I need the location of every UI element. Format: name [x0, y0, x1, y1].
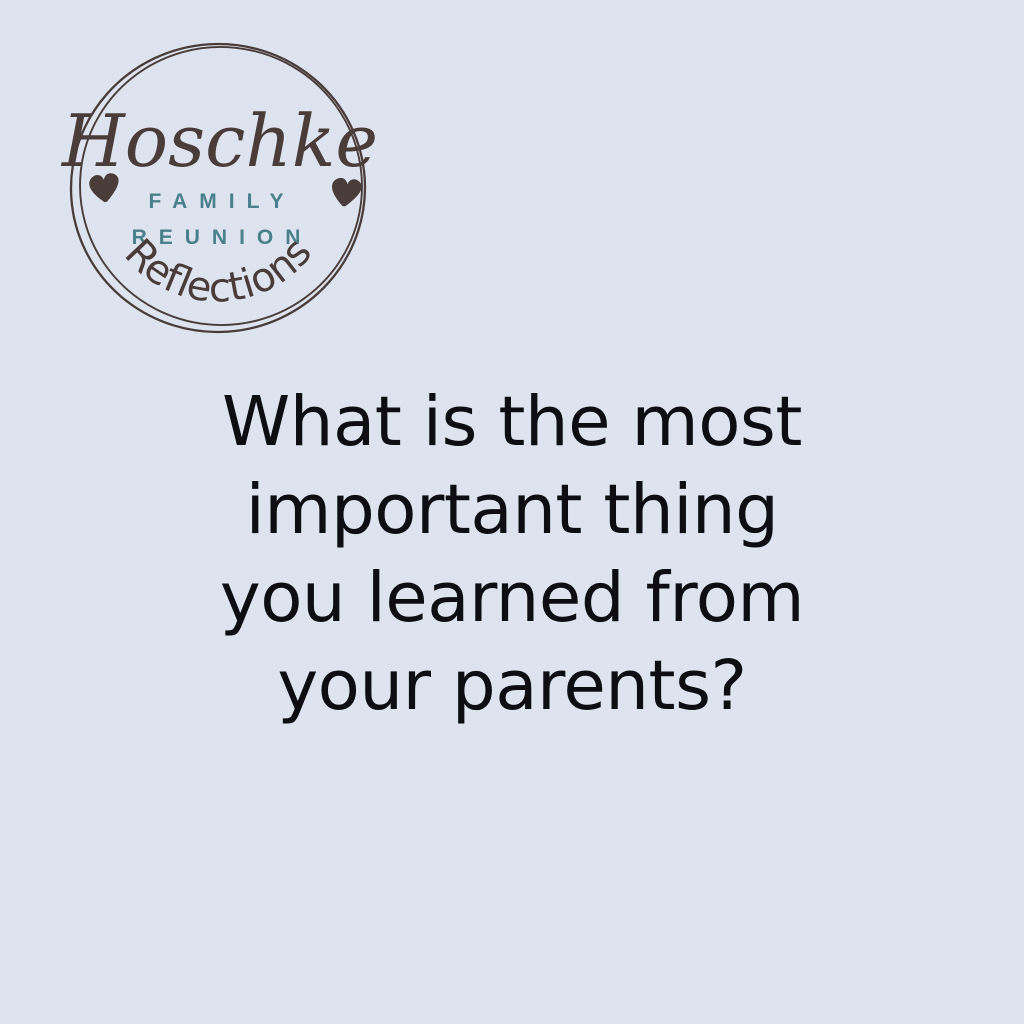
- question-line-3: you learned from: [162, 554, 862, 642]
- logo-brand-name: Hoschke: [60, 99, 378, 183]
- slide-canvas: Hoschke FAMILY REUNION Reflections What …: [0, 0, 1024, 1024]
- question-line-1: What is the most: [162, 378, 862, 466]
- question-text-block: What is the most important thing you lea…: [162, 378, 862, 730]
- question-line-2: important thing: [162, 466, 862, 554]
- question-line-4: your parents?: [162, 642, 862, 730]
- logo-badge: Hoschke FAMILY REUNION Reflections: [52, 26, 382, 348]
- heart-icon-right: [330, 177, 362, 208]
- logo-family-text: FAMILY: [148, 190, 295, 213]
